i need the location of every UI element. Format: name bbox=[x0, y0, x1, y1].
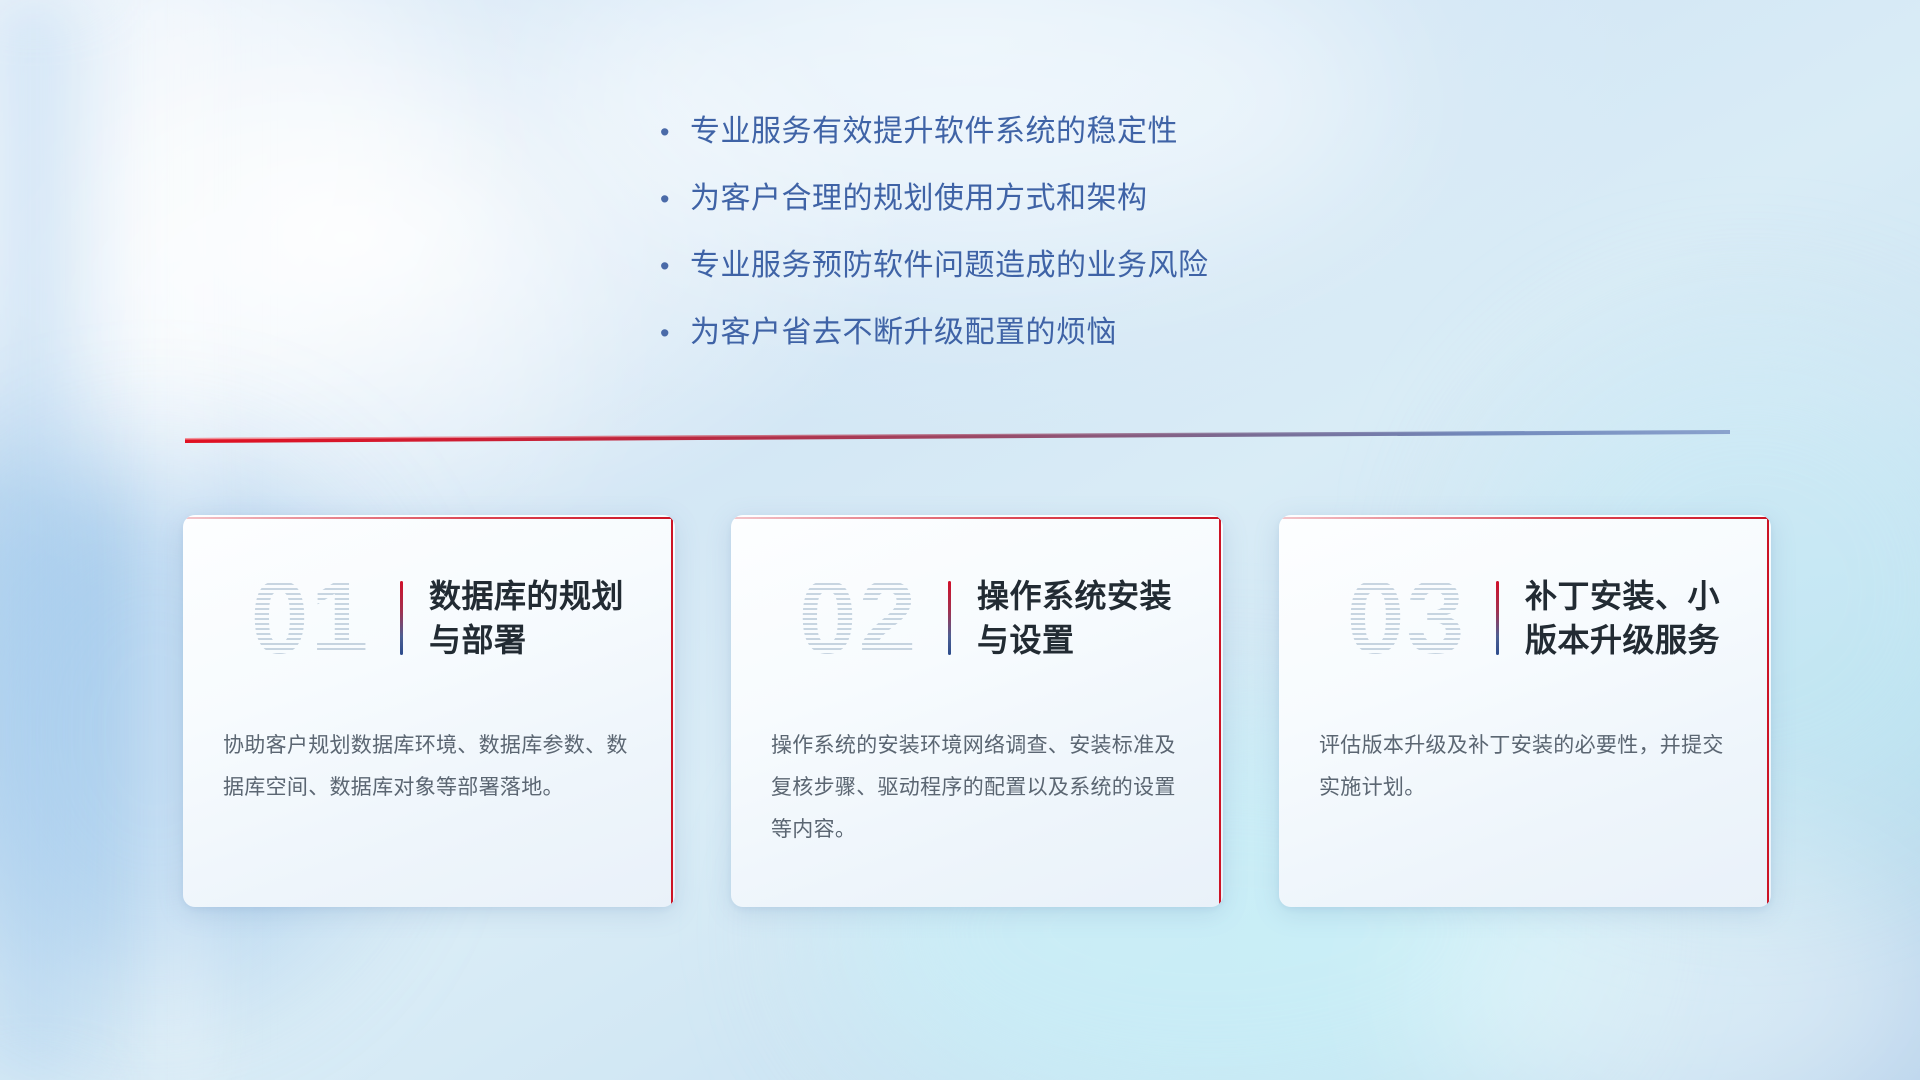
card-description: 评估版本升级及补丁安装的必要性，并提交实施计划。 bbox=[1319, 725, 1731, 809]
background-glow bbox=[0, 0, 440, 440]
benefits-bullet-list: • 专业服务有效提升软件系统的稳定性 • 为客户合理的规划使用方式和架构 • 专… bbox=[660, 112, 1420, 380]
card-title-divider-icon bbox=[948, 581, 951, 655]
list-item: • 专业服务有效提升软件系统的稳定性 bbox=[660, 112, 1420, 152]
card-title-line: 补丁安装、小 bbox=[1525, 574, 1720, 618]
service-card[interactable]: 01 数据库的规划 与部署 协助客户规划数据库环境、数据库参数、数据库空间、数据… bbox=[183, 515, 675, 907]
card-title-line: 数据库的规划 bbox=[429, 574, 624, 618]
card-title-divider-icon bbox=[400, 581, 403, 655]
card-title-line: 与设置 bbox=[977, 618, 1172, 662]
service-card[interactable]: 02 操作系统安装 与设置 操作系统的安装环境网络调查、安装标准及复核步骤、驱动… bbox=[731, 515, 1223, 907]
card-title-line: 版本升级服务 bbox=[1525, 618, 1720, 662]
background-light-band bbox=[0, 0, 120, 1080]
card-title: 补丁安装、小 版本升级服务 bbox=[1525, 574, 1720, 662]
card-number: 01 bbox=[223, 563, 398, 673]
card-header: 02 操作系统安装 与设置 bbox=[771, 563, 1183, 673]
section-divider bbox=[185, 428, 1730, 446]
card-title: 操作系统安装 与设置 bbox=[977, 574, 1172, 662]
card-title-line: 与部署 bbox=[429, 618, 624, 662]
list-item: • 为客户合理的规划使用方式和架构 bbox=[660, 179, 1420, 219]
card-title: 数据库的规划 与部署 bbox=[429, 574, 624, 662]
list-item: • 专业服务预防软件问题造成的业务风险 bbox=[660, 246, 1420, 286]
slide-canvas: • 专业服务有效提升软件系统的稳定性 • 为客户合理的规划使用方式和架构 • 专… bbox=[0, 0, 1920, 1080]
card-description: 协助客户规划数据库环境、数据库参数、数据库空间、数据库对象等部署落地。 bbox=[223, 725, 635, 809]
bullet-dot-icon: • bbox=[660, 179, 690, 219]
bullet-text: 专业服务有效提升软件系统的稳定性 bbox=[690, 112, 1178, 152]
card-number: 03 bbox=[1319, 563, 1494, 673]
bullet-dot-icon: • bbox=[660, 313, 690, 353]
background-glow bbox=[40, 120, 560, 550]
card-number: 02 bbox=[771, 563, 946, 673]
card-description: 操作系统的安装环境网络调查、安装标准及复核步骤、驱动程序的配置以及系统的设置等内… bbox=[771, 725, 1183, 851]
service-card-list: 01 数据库的规划 与部署 协助客户规划数据库环境、数据库参数、数据库空间、数据… bbox=[183, 515, 1773, 915]
card-title-divider-icon bbox=[1496, 581, 1499, 655]
bullet-text: 为客户省去不断升级配置的烦恼 bbox=[690, 313, 1117, 353]
bullet-text: 为客户合理的规划使用方式和架构 bbox=[690, 179, 1148, 219]
bullet-dot-icon: • bbox=[660, 112, 690, 152]
card-header: 03 补丁安装、小 版本升级服务 bbox=[1319, 563, 1731, 673]
list-item: • 为客户省去不断升级配置的烦恼 bbox=[660, 313, 1420, 353]
card-title-line: 操作系统安装 bbox=[977, 574, 1172, 618]
bullet-dot-icon: • bbox=[660, 246, 690, 286]
bullet-text: 专业服务预防软件问题造成的业务风险 bbox=[690, 246, 1209, 286]
card-header: 01 数据库的规划 与部署 bbox=[223, 563, 635, 673]
service-card[interactable]: 03 补丁安装、小 版本升级服务 评估版本升级及补丁安装的必要性，并提交实施计划… bbox=[1279, 515, 1771, 907]
